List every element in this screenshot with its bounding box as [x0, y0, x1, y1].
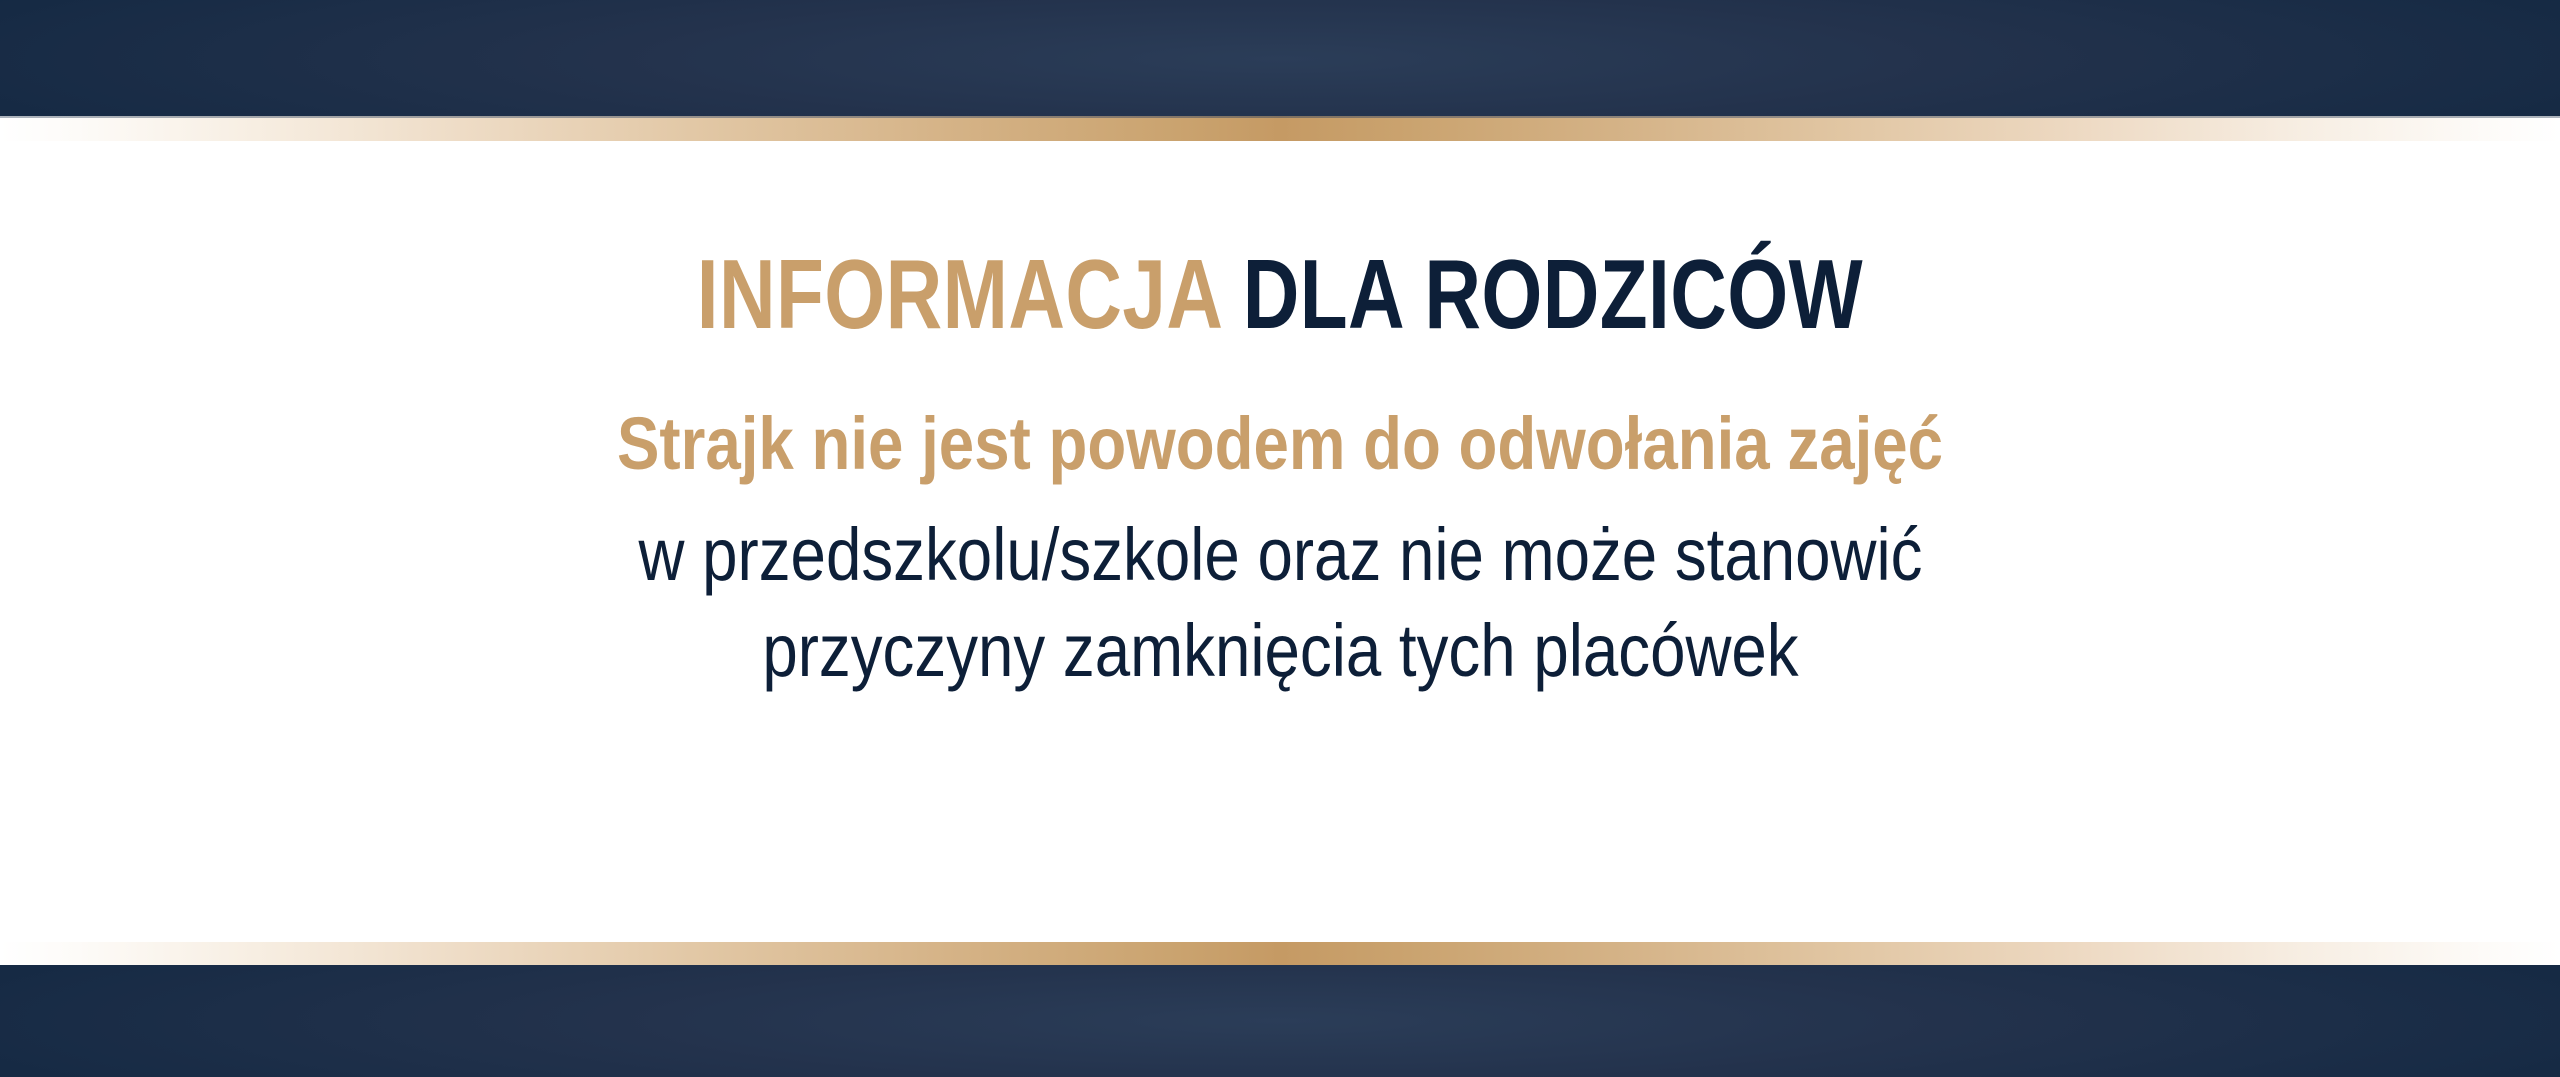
bottom-navy-band [0, 965, 2560, 1077]
headline-navy-text: DLA RODZICÓW [1243, 239, 1863, 349]
poster-content: INFORMACJA DLA RODZICÓW Strajk nie jest … [0, 141, 2560, 942]
information-poster: INFORMACJA DLA RODZICÓW Strajk nie jest … [0, 0, 2560, 1077]
body-line-2: przyczyny zamknięcia tych placówek [638, 603, 1922, 699]
top-navy-band [0, 0, 2560, 118]
headline-navy-part [1221, 239, 1243, 349]
headline-gold-part: INFORMACJA [697, 239, 1221, 349]
poster-body: w przedszkolu/szkole oraz nie może stano… [534, 507, 2027, 699]
top-gold-stripe [0, 118, 2560, 141]
poster-subtitle: Strajk nie jest powodem do odwołania zaj… [617, 407, 1943, 481]
body-line-1: w przedszkolu/szkole oraz nie może stano… [638, 507, 1922, 603]
page-title: INFORMACJA DLA RODZICÓW [697, 245, 1863, 343]
bottom-gold-stripe [0, 942, 2560, 965]
